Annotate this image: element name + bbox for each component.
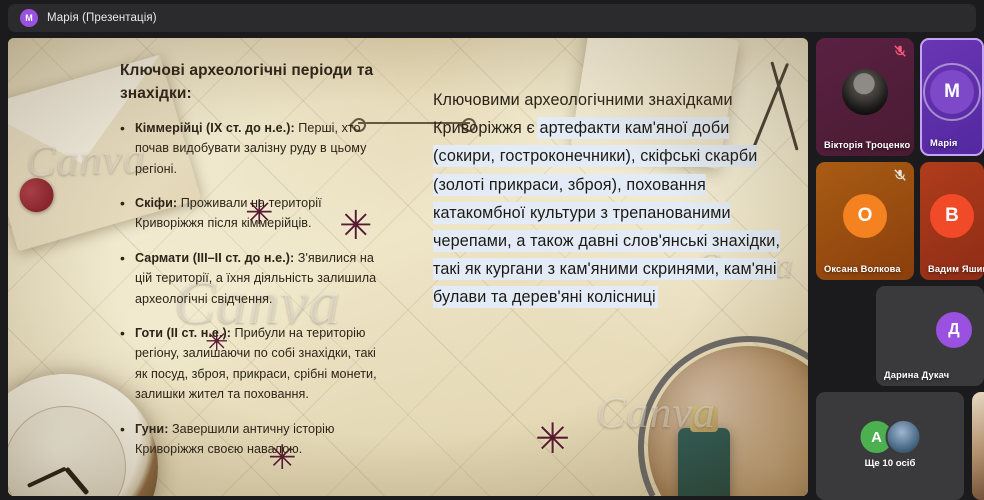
avatar: M <box>930 70 974 114</box>
avatar: В <box>930 194 974 238</box>
participant-name: Вадим Яшин <box>928 264 984 274</box>
watch-face <box>8 406 126 496</box>
participant-tile-vadym[interactable]: В Вадим Яшин <box>920 162 984 280</box>
watch-minute-hand <box>27 466 67 487</box>
avatar: О <box>843 194 887 238</box>
participant-name: Марія <box>930 138 957 148</box>
list-item: Кіммерійці (IX ст. до н.е.): Перші, хто … <box>120 118 388 179</box>
presenter-banner: M Марія (Презентація) <box>8 4 976 32</box>
avatar: Д <box>936 312 972 348</box>
more-participants-tile[interactable]: A Ще 10 осіб <box>816 392 964 500</box>
slide-left-column: Ключові археологічні періоди та знахідки… <box>120 60 388 473</box>
participant-rail: Вікторія Троценко M Марія О Оксана Волко… <box>816 38 984 500</box>
bullet-term: Сармати (III–II ст. до н.е.): <box>135 251 294 265</box>
participant-name: Вікторія Троценко <box>824 140 910 150</box>
bullet-term: Скіфи: <box>135 196 177 210</box>
slide-canvas: Canva Canva Canva Canva ✳ ✳ ✳ ✳ ✳ ✳ Ключ… <box>8 38 808 496</box>
bullet-term: Готи (II ст. н.е.): <box>135 326 231 340</box>
participant-tile-mariia[interactable]: M Марія <box>920 38 984 156</box>
participant-tile-oksana[interactable]: О Оксана Волкова <box>816 162 914 280</box>
participant-tile-viktoriia[interactable]: Вікторія Троценко <box>816 38 914 156</box>
list-item: Гуни: Завершили античну історію Криворіж… <box>120 419 388 460</box>
canva-watermark: Canva <box>596 387 716 438</box>
avatar <box>842 69 888 115</box>
presenter-avatar: M <box>20 9 38 27</box>
avatar-photo <box>886 419 922 455</box>
slide-right-paragraph: Ключовими археологічними знахідками Крив… <box>433 86 793 312</box>
star-burst-icon: ✳ <box>535 418 570 460</box>
watch-hour-hand <box>64 467 89 495</box>
presentation-stage[interactable]: Canva Canva Canva Canva ✳ ✳ ✳ ✳ ✳ ✳ Ключ… <box>8 38 808 496</box>
paragraph-highlighted-text: артефакти кам'яної доби (сокири, гострок… <box>433 119 780 306</box>
slide-bullet-list: Кіммерійці (IX ст. до н.е.): Перші, хто … <box>120 118 388 459</box>
video-call-app: M Марія (Презентація) Canva Canva Canva … <box>0 0 984 500</box>
presenter-title: Марія (Презентація) <box>47 12 157 24</box>
bullet-term: Гуни: <box>135 422 168 436</box>
mic-off-icon <box>893 44 907 58</box>
more-participants-avatars: A <box>859 419 922 455</box>
participant-name: Оксана Волкова <box>824 264 901 274</box>
list-item: Сармати (III–II ст. до н.е.): З'явилися … <box>120 248 388 309</box>
participant-tile-offscreen[interactable] <box>972 392 984 500</box>
participant-name: Дарина Дукач <box>884 370 949 380</box>
ink-bottle-illustration <box>678 428 730 496</box>
list-item: Скіфи: Проживали на території Криворіжжя… <box>120 193 388 234</box>
bullet-term: Кіммерійці (IX ст. до н.е.): <box>135 121 295 135</box>
mic-off-icon <box>893 168 907 182</box>
participant-tile-daryna[interactable]: Д Дарина Дукач <box>876 286 984 386</box>
slide-title: Ключові археологічні періоди та знахідки… <box>120 60 388 106</box>
list-item: Готи (II ст. н.е.): Прибули на територію… <box>120 323 388 405</box>
more-participants-label: Ще 10 осіб <box>816 458 964 469</box>
star-burst-icon: ✳ <box>333 493 362 496</box>
